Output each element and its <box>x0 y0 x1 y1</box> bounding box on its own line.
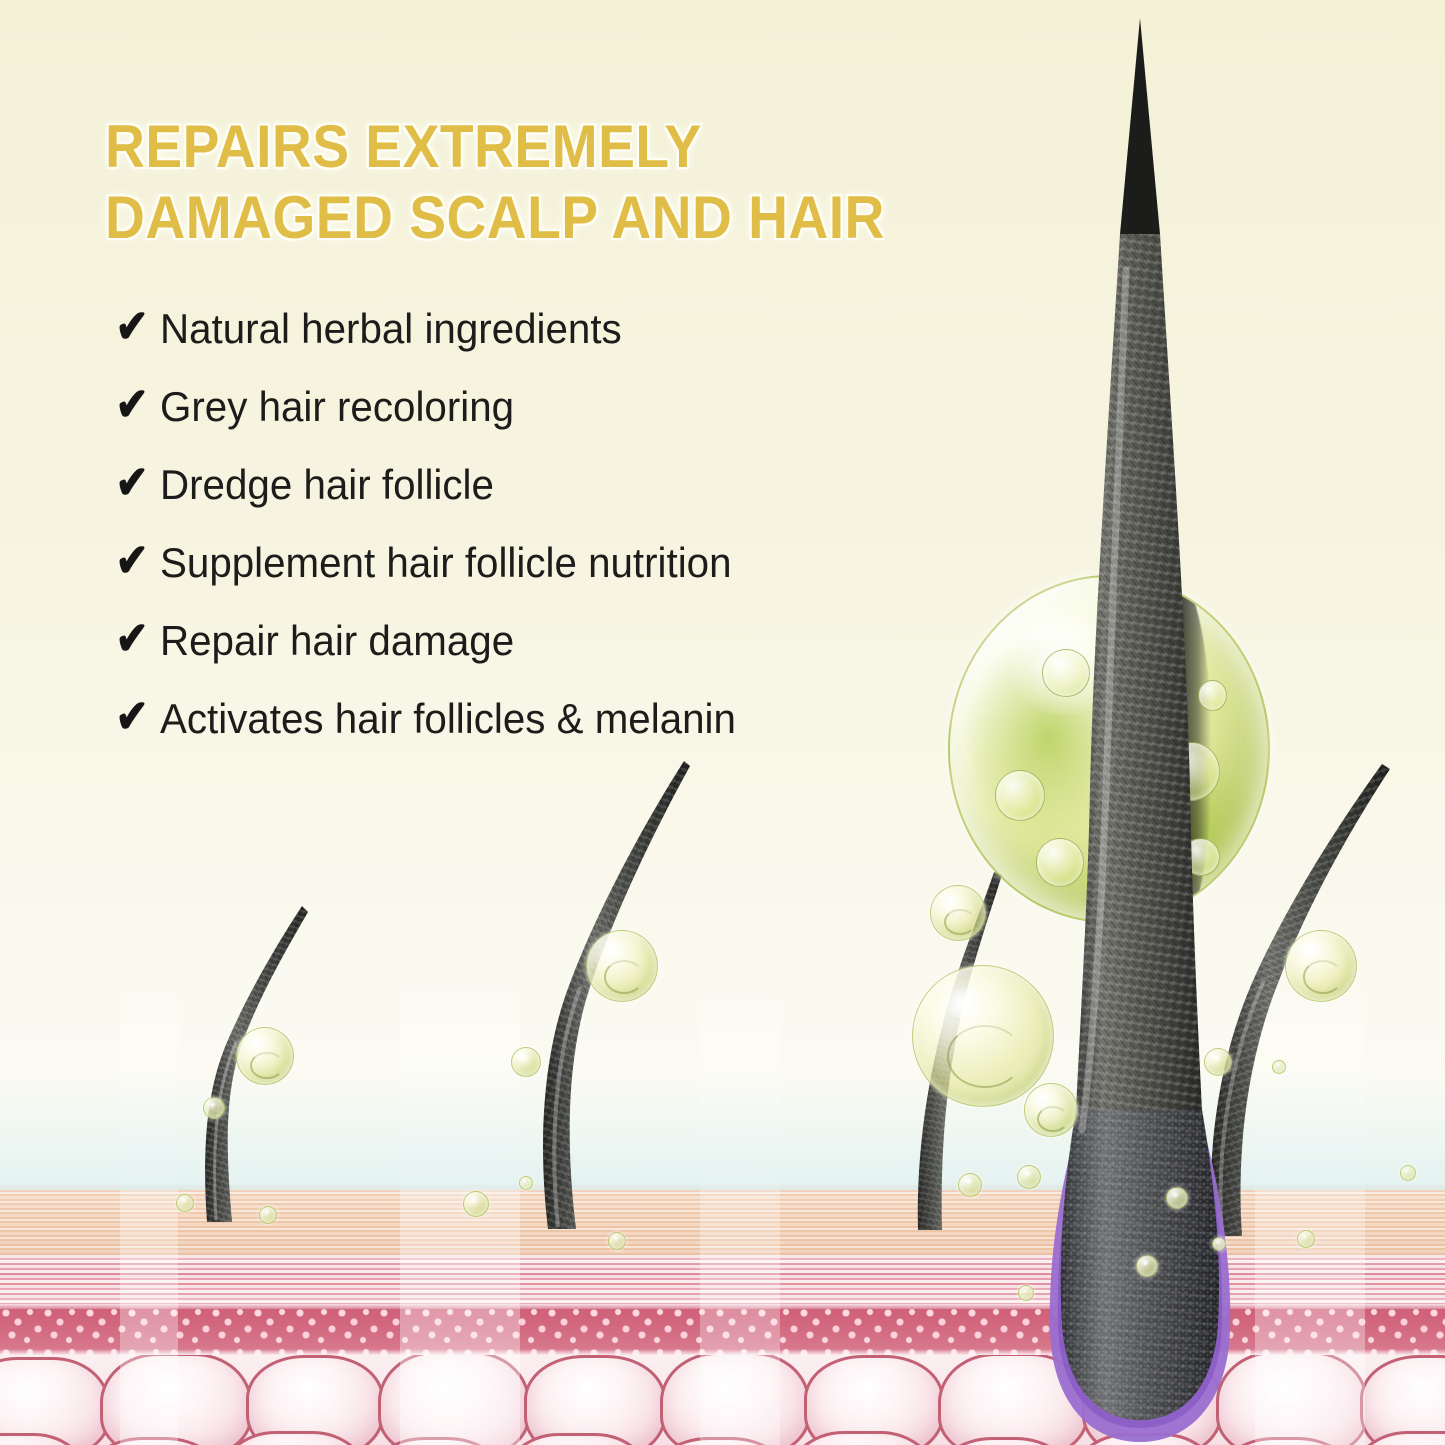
feature-list: ✔ Natural herbal ingredients ✔ Grey hair… <box>112 290 942 758</box>
serum-bubble <box>1024 1083 1078 1137</box>
page-title: REPAIRS EXTREMELY DAMAGED SCALP AND HAIR <box>105 112 905 254</box>
serum-bubble <box>519 1176 533 1190</box>
feature-label: Activates hair follicles & melanin <box>160 698 736 740</box>
serum-bubble <box>176 1194 194 1212</box>
check-icon: ✔ <box>116 615 157 661</box>
check-icon: ✔ <box>116 459 157 505</box>
list-item: ✔ Dredge hair follicle <box>112 446 942 524</box>
feature-label: Grey hair recoloring <box>160 386 514 428</box>
serum-bubble <box>1272 1060 1286 1074</box>
fat-cell <box>100 1355 252 1445</box>
feature-label: Supplement hair follicle nutrition <box>160 542 732 584</box>
list-item: ✔ Supplement hair follicle nutrition <box>112 524 942 602</box>
serum-bubble <box>203 1097 225 1119</box>
serum-bubble <box>608 1232 626 1250</box>
serum-bubble <box>259 1206 277 1224</box>
serum-bubble <box>930 885 986 941</box>
serum-bubble <box>1018 1285 1034 1301</box>
list-item: ✔ Activates hair follicles & melanin <box>112 680 942 758</box>
serum-bubble-medium <box>912 965 1054 1107</box>
serum-bubble <box>1212 1237 1226 1251</box>
feature-label: Repair hair damage <box>160 620 514 662</box>
fat-cell <box>660 1355 810 1445</box>
list-item: ✔ Natural herbal ingredients <box>112 290 942 368</box>
fat-cell <box>0 1357 110 1445</box>
list-item: ✔ Grey hair recoloring <box>112 368 942 446</box>
serum-bubble <box>1400 1165 1416 1181</box>
serum-bubble <box>1017 1165 1041 1189</box>
product-feature-poster: REPAIRS EXTREMELY DAMAGED SCALP AND HAIR… <box>0 0 1445 1445</box>
check-icon: ✔ <box>116 537 157 583</box>
list-item: ✔ Repair hair damage <box>112 602 942 680</box>
serum-bubble <box>1285 930 1357 1002</box>
fat-cell <box>378 1355 530 1445</box>
serum-bubble <box>236 1027 294 1085</box>
feature-label: Dredge hair follicle <box>160 464 494 506</box>
check-icon: ✔ <box>116 303 157 349</box>
serum-bubble <box>1136 1255 1158 1277</box>
fat-cell <box>524 1355 666 1445</box>
serum-bubble <box>586 930 658 1002</box>
serum-bubble <box>958 1173 982 1197</box>
feature-label: Natural herbal ingredients <box>160 308 622 350</box>
serum-bubble <box>511 1047 541 1077</box>
serum-bubble <box>1166 1187 1188 1209</box>
check-icon: ✔ <box>116 381 157 427</box>
check-icon: ✔ <box>116 693 157 739</box>
serum-bubble <box>1297 1230 1315 1248</box>
serum-bubble <box>463 1191 489 1217</box>
